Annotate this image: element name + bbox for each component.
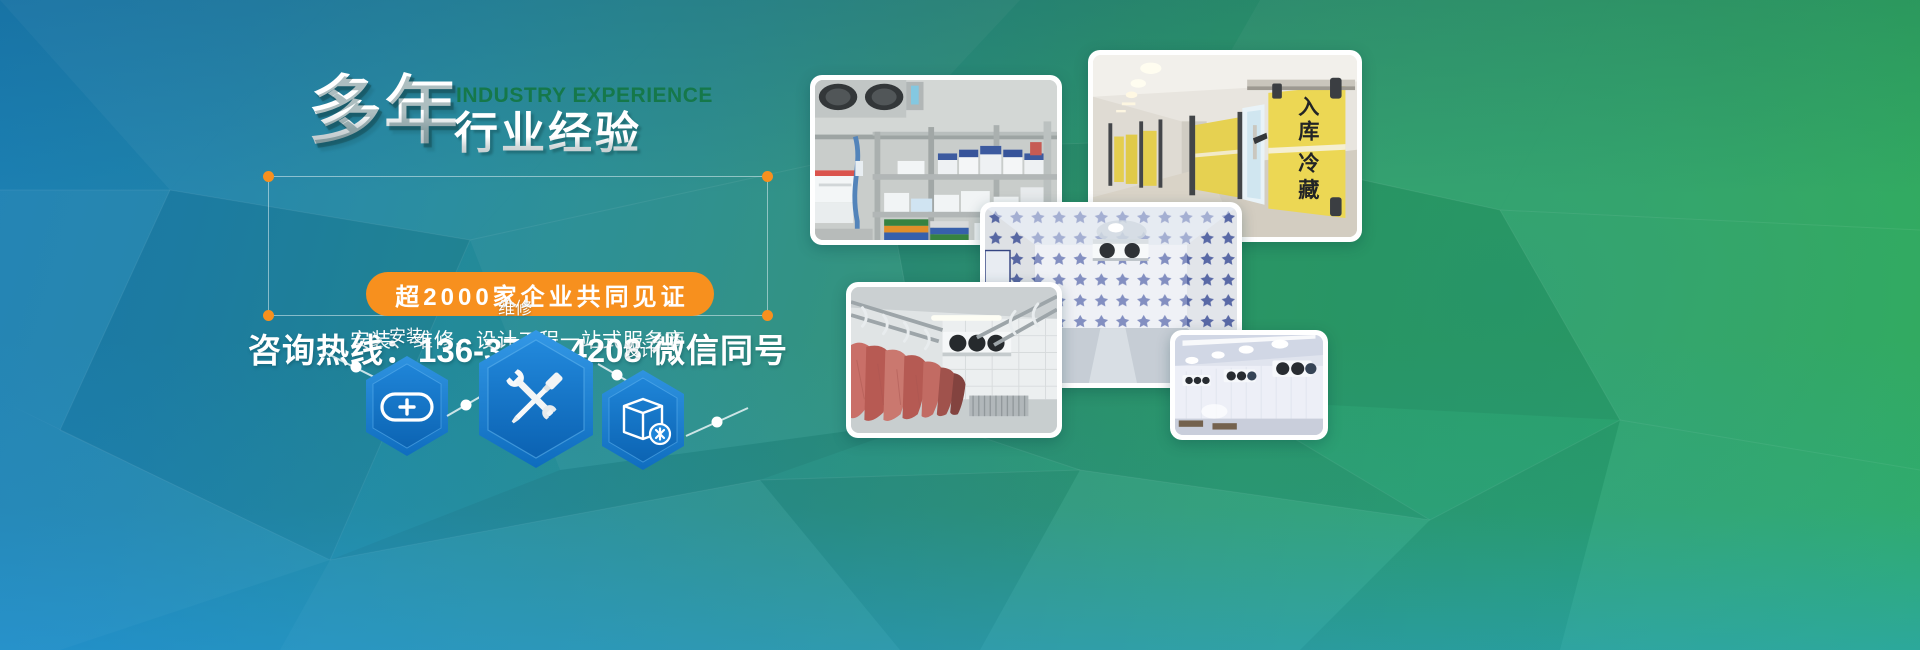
process-label-install: 安装 (346, 322, 466, 347)
process-label-repair: 维修 (455, 294, 575, 319)
process-hex-install[interactable] (362, 354, 452, 458)
frame-dot-bottom-left (263, 310, 274, 321)
headline-primary: 多年 (308, 70, 460, 152)
white-cold-room-evaporators-photo (1170, 330, 1328, 440)
process-label-design: 设计 (580, 336, 700, 361)
frame-dot-bottom-right (762, 310, 773, 321)
headline-english: INDUSTRY EXPERIENCE (456, 84, 713, 108)
photo-collage: 入 库 冷 藏 (800, 50, 1420, 510)
headline-block: 多年 INDUSTRY EXPERIENCE 行业经验 超2000家企业共同见证… (248, 74, 808, 314)
frame-line-right (767, 176, 768, 316)
frame-dot-top-left (263, 171, 274, 182)
promo-banner: 多年 INDUSTRY EXPERIENCE 行业经验 超2000家企业共同见证… (0, 0, 1920, 650)
process-steps: 安装 (330, 298, 750, 478)
meat-hanging-cold-room-photo (846, 282, 1062, 438)
headline-secondary: 行业经验 (454, 108, 642, 160)
frame-line-left (268, 176, 269, 316)
frame-dot-top-right (762, 171, 773, 182)
process-hex-design[interactable] (598, 368, 688, 472)
headline-row: 多年 INDUSTRY EXPERIENCE 行业经验 (248, 74, 808, 160)
connector-line-right (682, 406, 752, 442)
frame-line-top (268, 176, 768, 177)
